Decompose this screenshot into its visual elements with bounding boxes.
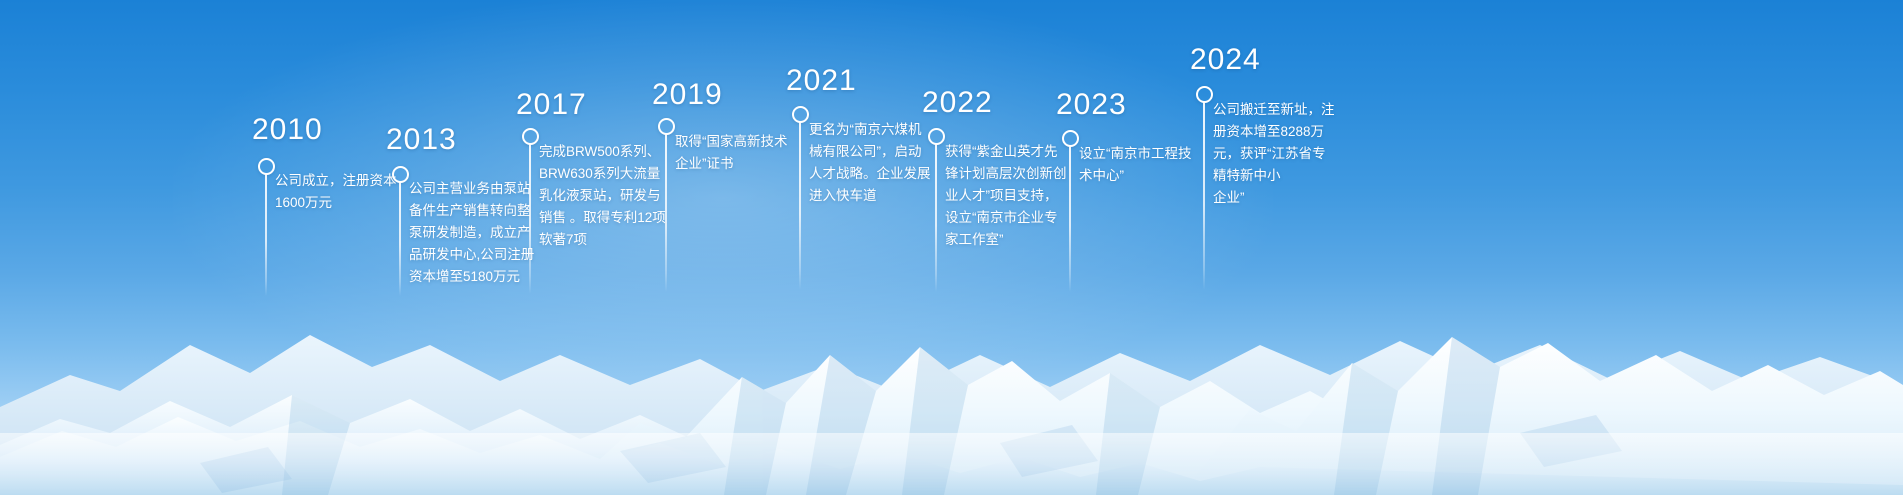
milestone-year-label: 2022 bbox=[922, 88, 993, 118]
milestone-description: 获得“紫金山英才先 锋计划高层次创新创 业人才”项目支持， 设立“南京市企业专 … bbox=[945, 141, 1067, 251]
timeline-track: 2010公司成立，注册资本 1600万元2013公司主营业务由泵站 备件生产销售… bbox=[0, 0, 1903, 495]
milestone-stem-line bbox=[265, 174, 267, 296]
milestone-stem-line bbox=[1203, 102, 1205, 290]
milestone-description: 完成BRW500系列、 BRW630系列大流量 乳化液泵站，研发与 销售 。取得… bbox=[539, 141, 666, 251]
timeline-infographic: 2010公司成立，注册资本 1600万元2013公司主营业务由泵站 备件生产销售… bbox=[0, 0, 1903, 495]
milestone-stem-line bbox=[799, 122, 801, 290]
milestone-description: 公司成立，注册资本 1600万元 bbox=[275, 170, 397, 214]
milestone-year-label: 2024 bbox=[1190, 45, 1261, 75]
milestone-description: 设立“南京市工程技 术中心” bbox=[1079, 143, 1192, 187]
milestone-year-label: 2013 bbox=[386, 125, 457, 155]
milestone-year-label: 2023 bbox=[1056, 90, 1127, 120]
milestone-description: 公司搬迁至新址，注 册资本增至8288万 元，获评“江苏省专 精特新中小 企业” bbox=[1213, 99, 1335, 209]
milestone-description: 公司主营业务由泵站 备件生产销售转向整 泵研发制造，成立产 品研发中心,公司注册… bbox=[409, 178, 534, 288]
milestone-node-icon[interactable] bbox=[392, 166, 409, 183]
milestone-description: 更名为“南京六煤机 械有限公司”，启动 人才战略。企业发展 进入快车道 bbox=[809, 119, 931, 207]
milestone-node-icon[interactable] bbox=[258, 158, 275, 175]
milestone-stem-line bbox=[935, 144, 937, 292]
milestone-year-label: 2010 bbox=[252, 115, 323, 145]
milestone-stem-line bbox=[665, 134, 667, 292]
milestone-stem-line bbox=[529, 144, 531, 294]
milestone-node-icon[interactable] bbox=[1196, 86, 1213, 103]
milestone-stem-line bbox=[1069, 146, 1071, 292]
milestone-node-icon[interactable] bbox=[1062, 130, 1079, 147]
milestone-node-icon[interactable] bbox=[658, 118, 675, 135]
milestone-year-label: 2019 bbox=[652, 80, 723, 110]
milestone-year-label: 2021 bbox=[786, 66, 857, 96]
milestone-node-icon[interactable] bbox=[792, 106, 809, 123]
milestone-year-label: 2017 bbox=[516, 90, 587, 120]
milestone-node-icon[interactable] bbox=[928, 128, 945, 145]
milestone-stem-line bbox=[399, 182, 401, 296]
milestone-description: 取得“国家高新技术 企业”证书 bbox=[675, 131, 788, 175]
milestone-node-icon[interactable] bbox=[522, 128, 539, 145]
